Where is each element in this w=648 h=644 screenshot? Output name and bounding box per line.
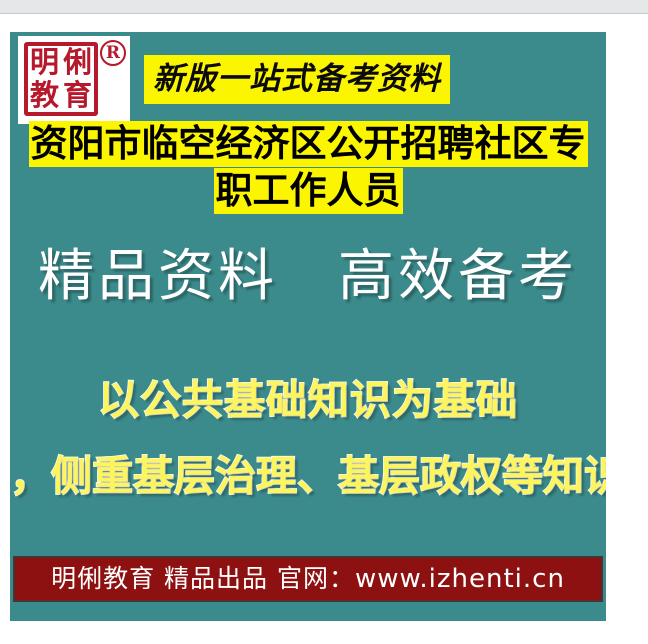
seal-char-2: 俐	[61, 46, 94, 79]
poster-title: 资阳市临空经济区公开招聘社区专 职工作人员	[10, 121, 606, 214]
title-line-2: 职工作人员	[214, 168, 403, 214]
slogan-text: 精品资料 高效备考	[10, 238, 606, 316]
footer-bar: 明俐教育 精品出品 官网：www.izhenti.cn	[13, 556, 603, 602]
seal-char-1: 明	[28, 46, 61, 79]
footer-brand-text: 明俐教育 精品出品 官网：	[51, 564, 355, 593]
seal-char-3: 教	[28, 79, 61, 112]
title-line-1: 资阳市临空经济区公开招聘社区专	[29, 121, 588, 167]
registered-trademark-icon: R	[100, 40, 126, 66]
highlight-line-2: ，侧重基层治理、基层政权等知识	[10, 445, 606, 507]
title-line-1-row: 资阳市临空经济区公开招聘社区专	[10, 121, 606, 167]
title-line-2-row: 职工作人员	[10, 168, 606, 214]
subtitle-banner: 新版一站式备考资料	[144, 55, 450, 104]
highlight-block: 以公共基础知识为基础 ，侧重基层治理、基层政权等知识	[10, 369, 606, 507]
brand-logo: 明 俐 教 育 R	[18, 36, 130, 124]
highlight-line-1: 以公共基础知识为基础	[10, 369, 606, 431]
seal-stamp-icon: 明 俐 教 育	[24, 42, 98, 116]
footer-url: www.izhenti.cn	[355, 564, 565, 594]
poster-panel: 明 俐 教 育 R 新版一站式备考资料 资阳市临空经济区公开招聘社区专 职工作人…	[10, 32, 606, 621]
seal-char-4: 育	[61, 79, 94, 112]
browser-top-strip	[0, 0, 648, 14]
